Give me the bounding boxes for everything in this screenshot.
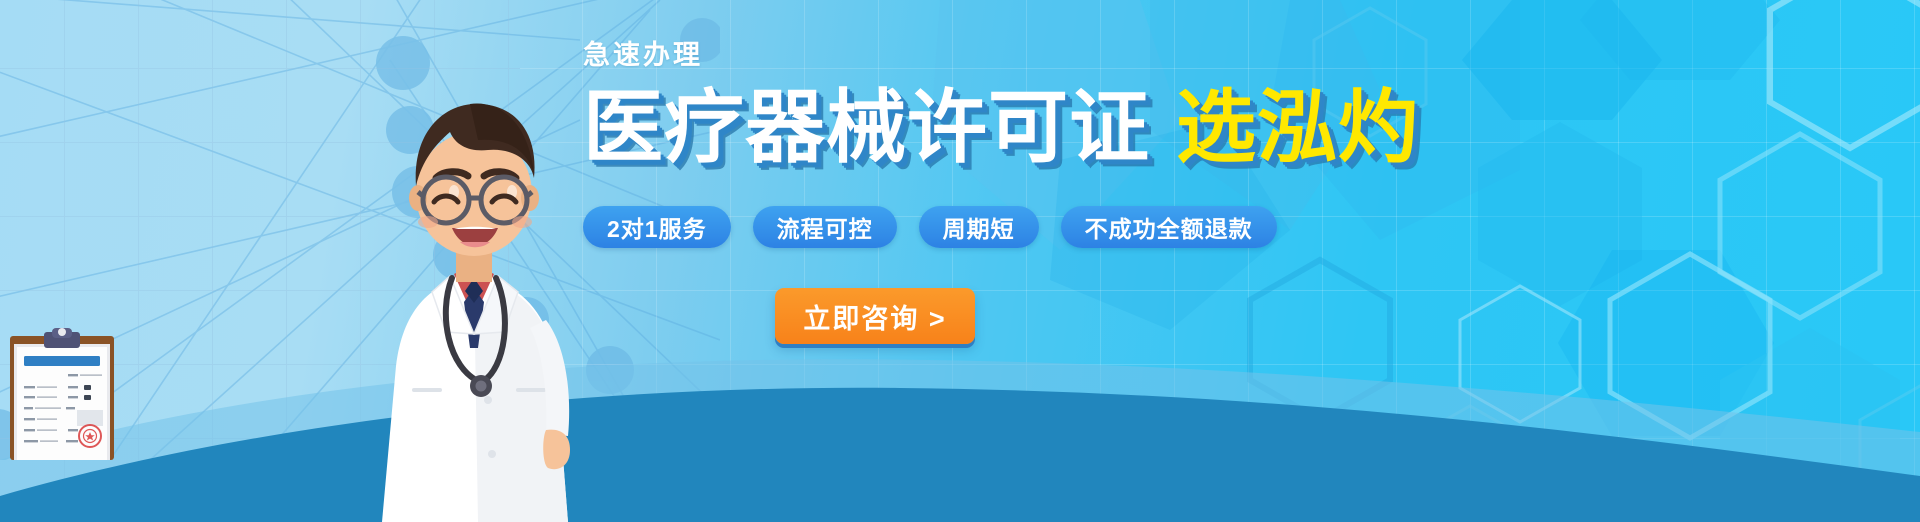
headline-row: 医疗器械许可证 选泓灼 (583, 88, 1419, 168)
headline-accent: 选泓灼 (1176, 88, 1419, 168)
eyebrow-text: 急速办理 (583, 42, 1303, 69)
feature-pill-2[interactable]: 周期短 (919, 206, 1039, 248)
headline-main: 医疗器械许可证 (583, 88, 1150, 168)
feature-pill-list: 2对1服务 流程可控 周期短 不成功全额退款 (583, 206, 1277, 248)
background-wave (0, 322, 1920, 522)
consult-now-button[interactable]: 立即咨询 > (775, 288, 975, 344)
licence-clipboard (8, 328, 116, 460)
feature-pill-0[interactable]: 2对1服务 (583, 206, 731, 248)
feature-pill-3[interactable]: 不成功全额退款 (1061, 206, 1277, 248)
doctor-illustration (320, 82, 620, 522)
headline-block: 急速办理 医疗器械许可证 选泓灼 (583, 42, 1303, 69)
feature-pill-1[interactable]: 流程可控 (753, 206, 897, 248)
promo-banner: 急速办理 医疗器械许可证 选泓灼 2对1服务 流程可控 周期短 不成功全额退款 … (0, 0, 1920, 522)
